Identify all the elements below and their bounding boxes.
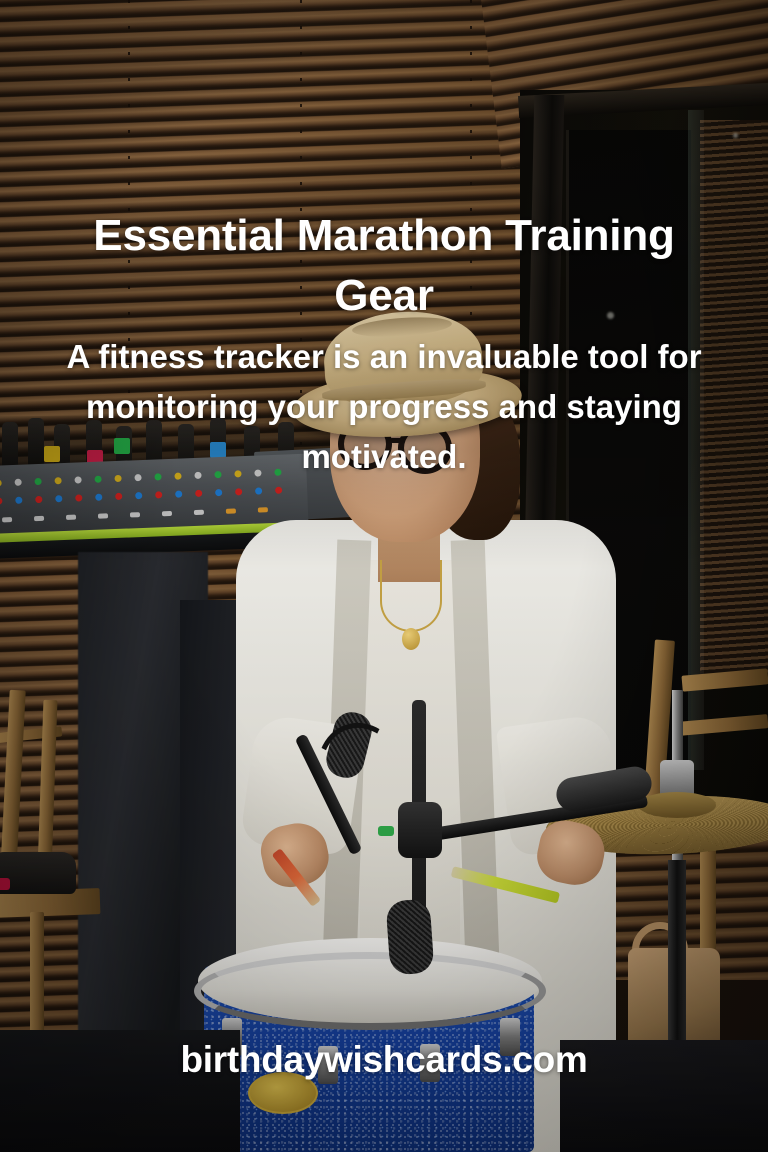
site-watermark: birthdaywishcards.com <box>0 1036 768 1084</box>
pinterest-style-image-card: Essential Marathon Training Gear A fitne… <box>0 0 768 1152</box>
card-title: Essential Marathon Training Gear <box>40 206 728 326</box>
text-overlay: Essential Marathon Training Gear A fitne… <box>0 0 768 1152</box>
card-subtitle: A fitness tracker is an invaluable tool … <box>56 332 712 482</box>
